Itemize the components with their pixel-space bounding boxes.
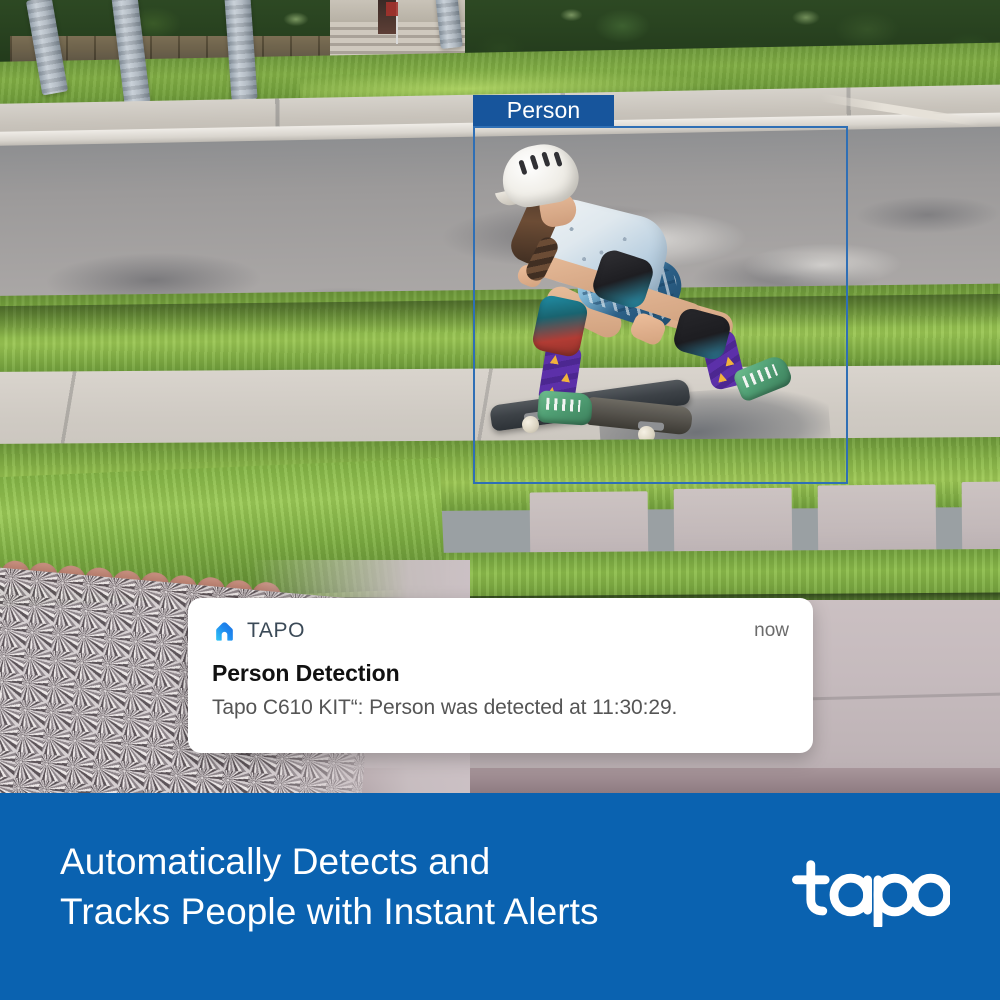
notification-timestamp: now <box>754 620 789 642</box>
promo-headline: Automatically Detects and Tracks People … <box>60 837 599 937</box>
notification-card[interactable]: TAPO now Person Detection Tapo C610 KIT“… <box>188 598 813 753</box>
promo-headline-line1: Automatically Detects and <box>60 837 599 887</box>
paver <box>962 481 1000 558</box>
tapo-logo <box>790 855 950 927</box>
detection-label: Person <box>473 95 614 126</box>
notification-title: Person Detection <box>212 660 789 687</box>
camera-scene: Person TAPO now Person Detectio <box>0 0 1000 793</box>
notification-header: TAPO now <box>212 618 789 644</box>
home-icon <box>212 619 237 644</box>
promo-headline-line2: Tracks People with Instant Alerts <box>60 887 599 937</box>
notification-body: Tapo C610 KIT“: Person was detected at 1… <box>212 696 789 720</box>
palm-trunk <box>435 0 463 49</box>
flag <box>386 2 398 16</box>
person-bounding-box[interactable] <box>473 126 848 484</box>
tapo-promo-image: Person TAPO now Person Detectio <box>0 0 1000 1000</box>
notification-app-name: TAPO <box>247 619 305 643</box>
